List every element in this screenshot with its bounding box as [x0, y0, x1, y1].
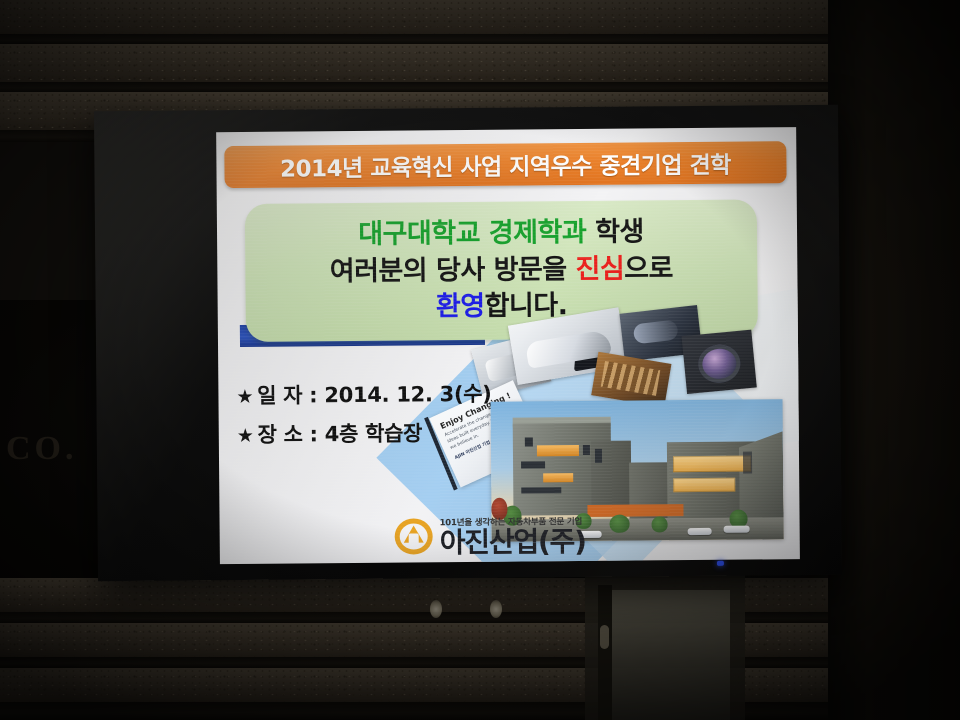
presentation-slide: 2014년 교육혁신 사업 지역우수 중견기업 견학 대구대학교 경제학과 학생… [216, 127, 800, 564]
sincerely-text: 진심 [575, 253, 624, 284]
window-dark [583, 445, 590, 455]
company-logo-block: 101년을 생각하는 자동차부품 전문 기업 아진산업(주) [394, 513, 624, 559]
wall-sign-text: CO. [6, 430, 78, 468]
power-led-indicator [717, 561, 724, 566]
company-name: 아진산업(주) [440, 527, 586, 556]
event-place-label: 장 소 : [257, 422, 317, 447]
parked-car [688, 528, 712, 535]
logo-text-group: 101년을 생각하는 자동차부품 전문 기업 아진산업(주) [440, 514, 586, 556]
window-dark [521, 461, 545, 468]
visit-text: 여러분의 당사 방문을 [330, 254, 576, 287]
tree [652, 516, 668, 532]
door-handle [600, 625, 609, 649]
window-glass-band [673, 456, 751, 473]
wall-fixture [430, 600, 442, 618]
window-glass-band [673, 478, 735, 493]
wall-band [0, 623, 960, 657]
slide-title-text: 2014년 교육혁신 사업 지역우수 중견기업 견학 [280, 146, 731, 184]
right-pillar [828, 0, 960, 720]
window-dark [595, 449, 602, 463]
wall-band [0, 668, 960, 702]
wall-band [0, 0, 960, 34]
window-amber [537, 445, 579, 456]
window-dark [525, 437, 533, 446]
event-place-value: 4층 학습장 [325, 421, 423, 446]
event-date-label: 일 자 : [257, 383, 317, 408]
welcome-line-1: 대구대학교 경제학과 학생 [358, 214, 644, 253]
welcome-line-2: 여러분의 당사 방문을 진심으로 [330, 251, 673, 291]
window-amber [543, 473, 573, 482]
collage-photo-brochure [591, 352, 671, 408]
students-text: 학생 [586, 216, 644, 248]
slide-title-banner: 2014년 교육혁신 사업 지역우수 중견기업 견학 [224, 141, 786, 188]
door-frame [598, 585, 612, 720]
wall-groove [0, 657, 960, 668]
star-icon: ★ [237, 425, 254, 447]
window-dark [743, 452, 752, 474]
wall-band [0, 578, 960, 612]
glass-door [610, 590, 730, 720]
wall-groove [0, 702, 960, 720]
wall-groove [0, 82, 960, 92]
university-department-text: 대구대학교 경제학과 [358, 217, 586, 250]
window-dark [521, 487, 561, 493]
wall-band [0, 44, 960, 82]
collage-photo-camera-lens [682, 330, 757, 394]
wall-groove [0, 612, 960, 623]
event-details: ★일 자 : 2014. 12. 3(수) ★장 소 : 4층 학습장 [236, 378, 492, 458]
star-icon: ★ [236, 386, 253, 408]
photo-collage [476, 312, 799, 410]
event-date-line: ★일 자 : 2014. 12. 3(수) [236, 378, 491, 410]
parked-car [724, 526, 750, 533]
photo-scene: CO. 2014년 교육혁신 사업 지역우수 중견기업 견학 대구대학교 경제학… [0, 0, 960, 720]
ajin-logo-icon [395, 516, 435, 556]
event-date-value: 2014. 12. 3(수) [324, 382, 491, 407]
particle-text: 으로 [624, 253, 673, 284]
event-place-line: ★장 소 : 4층 학습장 [237, 417, 492, 449]
wall-groove [0, 34, 960, 44]
wall-mounted-display: 2014년 교육혁신 사업 지역우수 중견기업 견학 대구대학교 경제학과 학생… [94, 105, 842, 581]
wall-fixture [490, 600, 502, 618]
logo-notch-shape [409, 533, 419, 547]
